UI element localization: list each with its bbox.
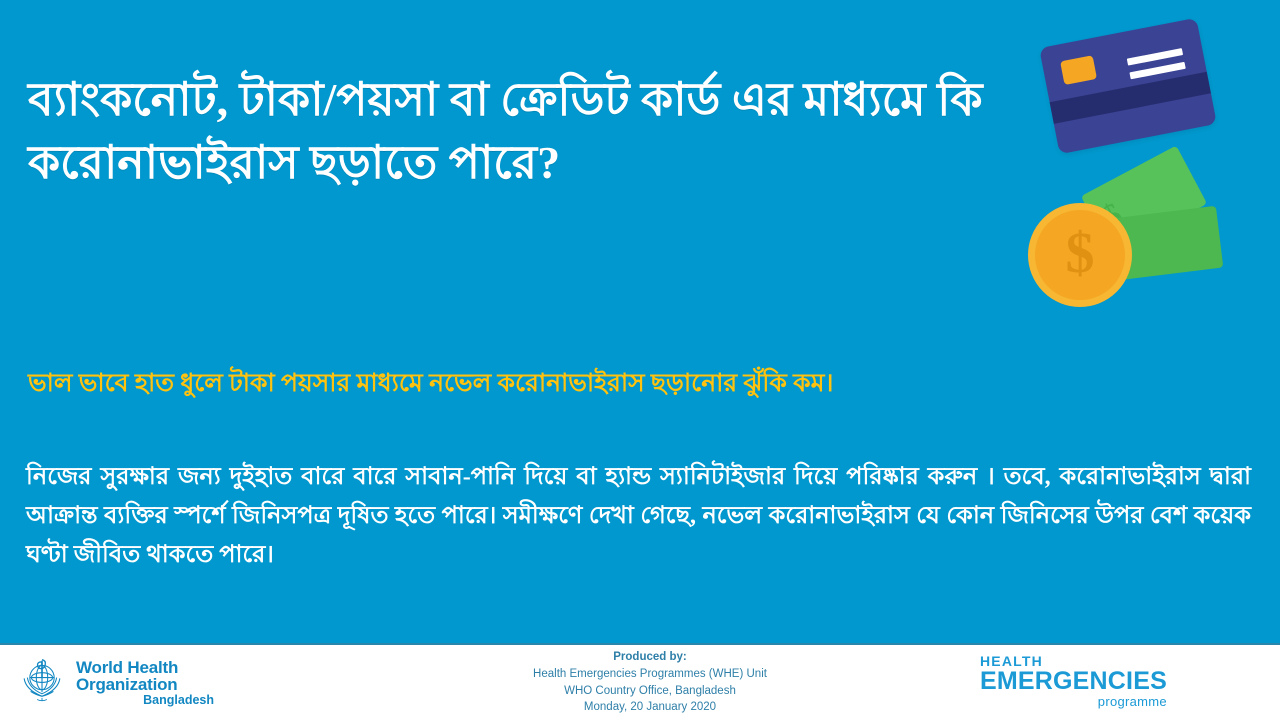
card-magnetic-stripe-icon bbox=[1044, 69, 1217, 125]
page-title: ব্যাংকনোট, টাকা/পয়সা বা ক্রেডিট কার্ড এ… bbox=[28, 68, 988, 195]
coin-dollar-sign-icon: $ bbox=[1066, 224, 1095, 282]
who-line-1: World Health bbox=[76, 659, 214, 677]
card-line-icon bbox=[1127, 48, 1183, 66]
dollar-coin-icon: $ bbox=[1028, 203, 1132, 307]
he-line-2: EMERGENCIES bbox=[980, 669, 1167, 695]
who-wordmark: World Health Organization Bangladesh bbox=[76, 659, 214, 707]
money-illustration: $ $ $ bbox=[980, 0, 1280, 370]
production-credit: Produced by: Health Emergencies Programm… bbox=[320, 649, 980, 716]
card-line-icon bbox=[1129, 62, 1185, 80]
who-emblem-icon bbox=[16, 654, 68, 711]
dollar-sign-icon: $ bbox=[1097, 198, 1128, 236]
lead-message: ভাল ভাবে হাত ধুলে টাকা পয়সার মাধ্যমে নভ… bbox=[28, 366, 1243, 402]
dollar-sign-icon: $ bbox=[1106, 231, 1127, 267]
card-chip-icon bbox=[1060, 55, 1097, 85]
footer-bar: World Health Organization Bangladesh Pro… bbox=[0, 643, 1280, 720]
banknote-back-icon: $ bbox=[1081, 146, 1207, 255]
produced-by-label: Produced by: bbox=[320, 649, 980, 666]
banknote-front-icon: $ bbox=[1095, 206, 1224, 282]
who-logo: World Health Organization Bangladesh bbox=[0, 654, 320, 711]
health-emergencies-logo: HEALTH EMERGENCIES programme bbox=[980, 654, 1280, 711]
who-country-label: Bangladesh bbox=[76, 694, 214, 707]
body-paragraph: নিজের সুরক্ষার জন্য দুইহাত বারে বারে সাব… bbox=[26, 458, 1251, 575]
unit-label: Health Emergencies Programmes (WHE) Unit bbox=[320, 666, 980, 683]
banknotes-icon: $ $ $ bbox=[1018, 165, 1248, 335]
office-label: WHO Country Office, Bangladesh bbox=[320, 683, 980, 700]
infographic-slide: ব্যাংকনোট, টাকা/পয়সা বা ক্রেডিট কার্ড এ… bbox=[0, 0, 1280, 720]
credit-card-icon bbox=[1039, 18, 1217, 155]
date-label: Monday, 20 January 2020 bbox=[320, 699, 980, 716]
who-line-2: Organization bbox=[76, 676, 214, 694]
he-line-3: programme bbox=[980, 694, 1167, 710]
